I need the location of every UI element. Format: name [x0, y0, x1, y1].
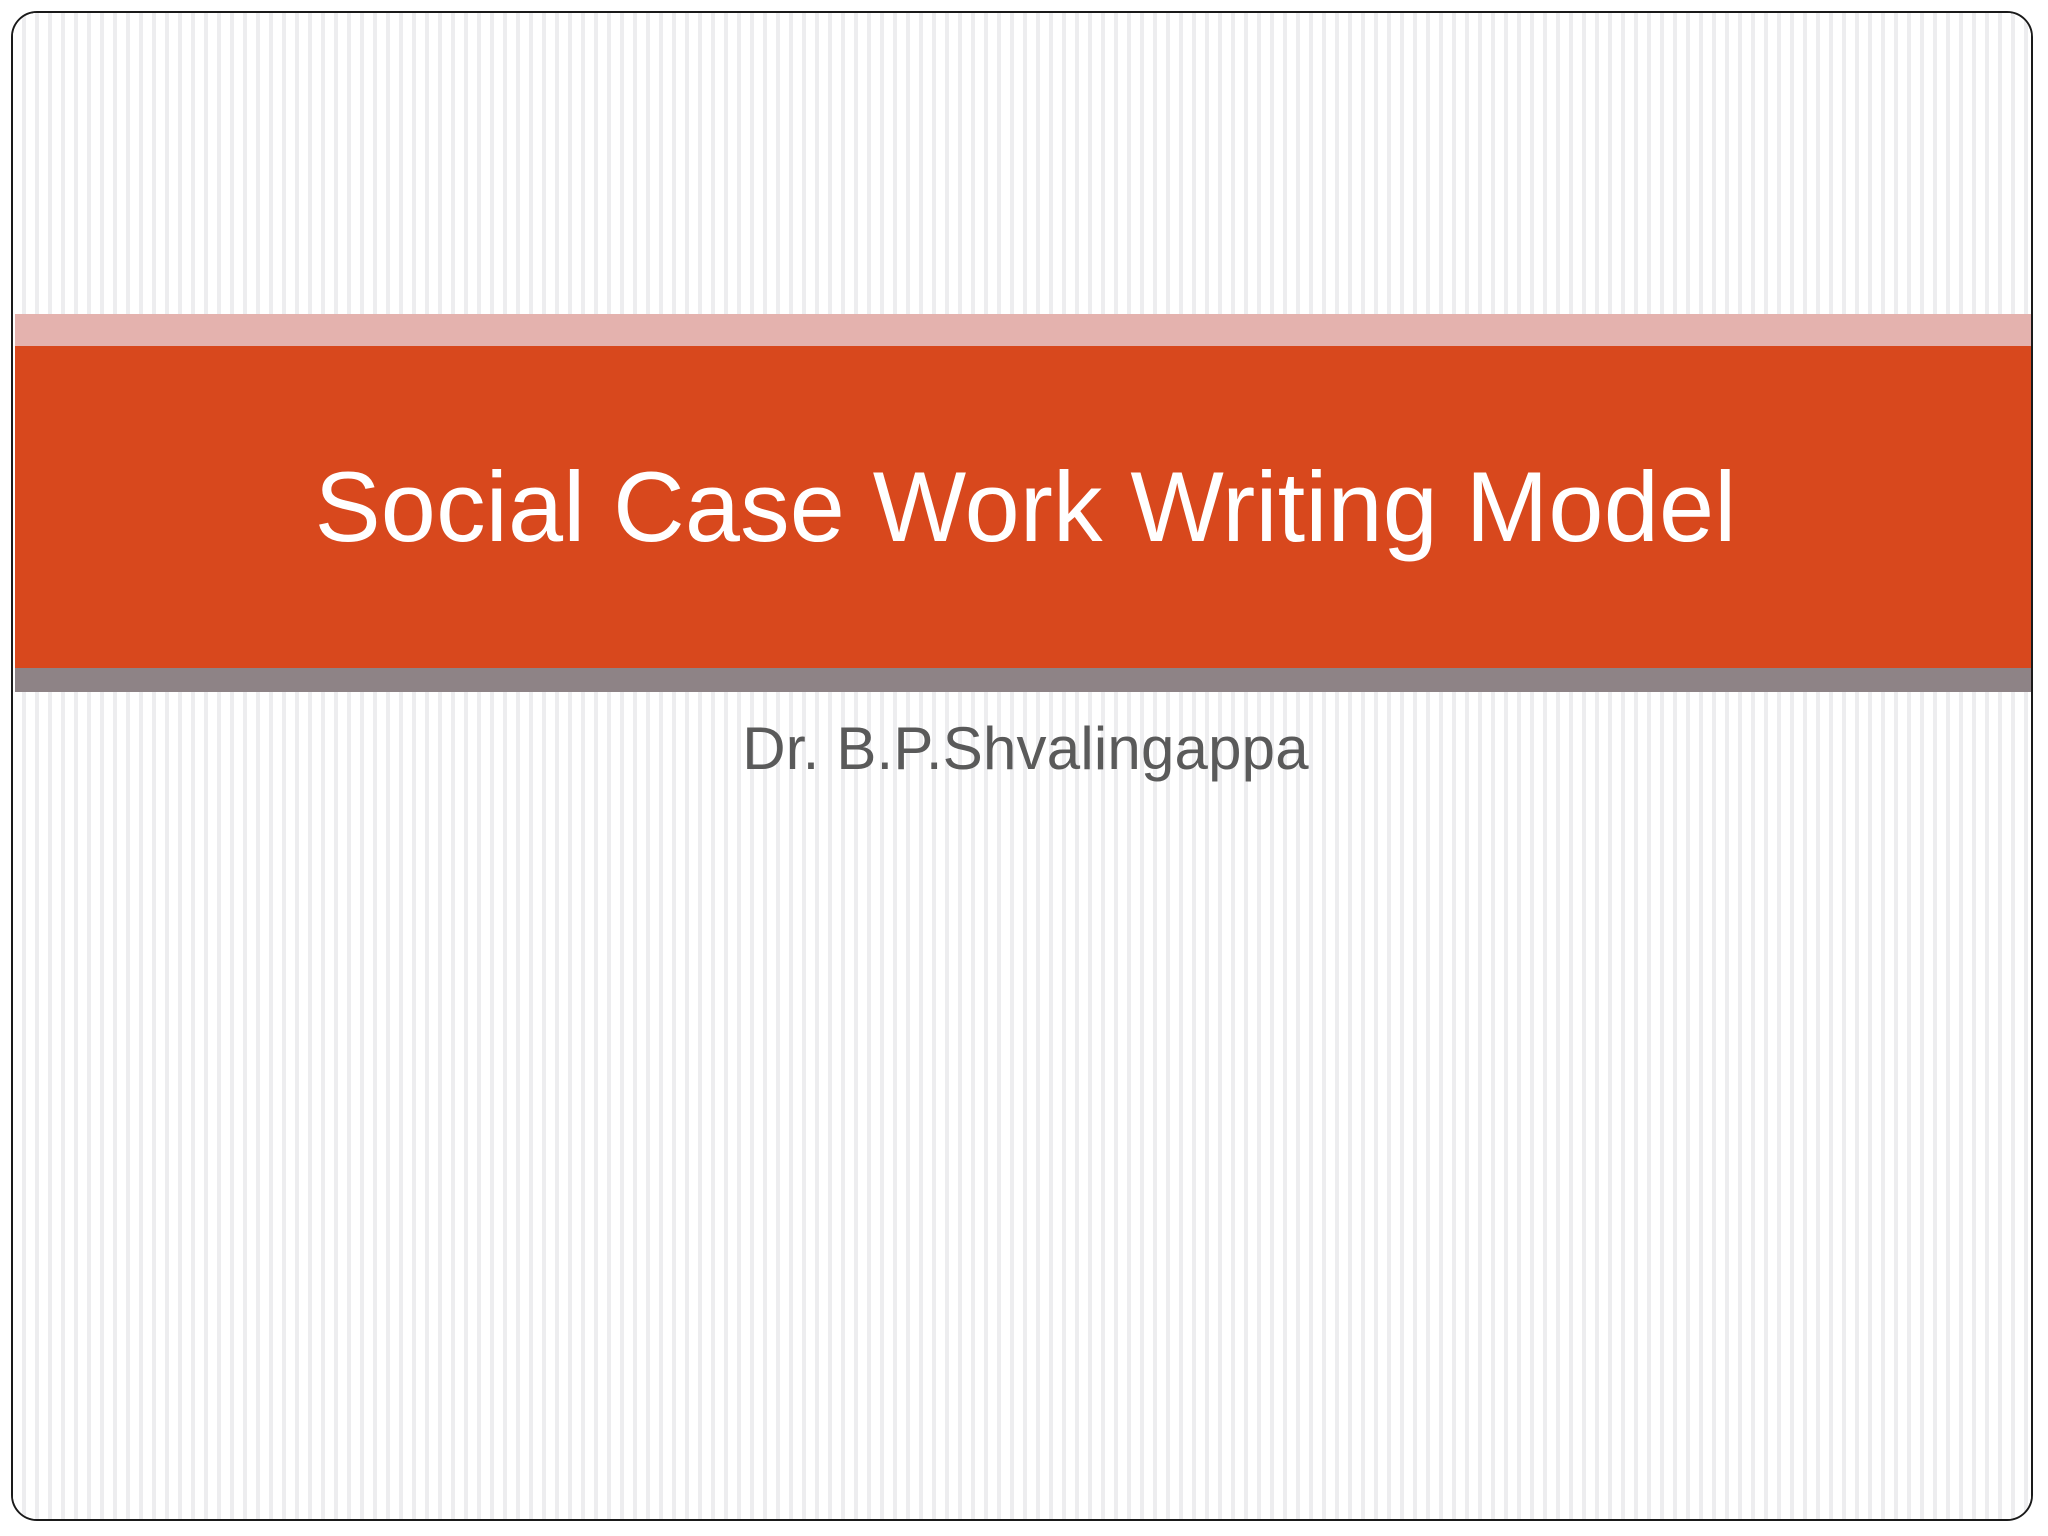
slide-root: Social Case Work Writing Model Dr. B.P.S… — [0, 0, 2048, 1536]
title-highlight-band — [15, 314, 2033, 346]
title-container: Social Case Work Writing Model — [15, 346, 2033, 668]
title-shadow-band — [15, 668, 2033, 692]
subtitle-container: Dr. B.P.Shvalingappa — [15, 713, 2033, 785]
slide-frame: Social Case Work Writing Model Dr. B.P.S… — [11, 11, 2033, 1521]
slide-subtitle: Dr. B.P.Shvalingappa — [15, 713, 2033, 785]
page-title: Social Case Work Writing Model — [315, 453, 1737, 562]
